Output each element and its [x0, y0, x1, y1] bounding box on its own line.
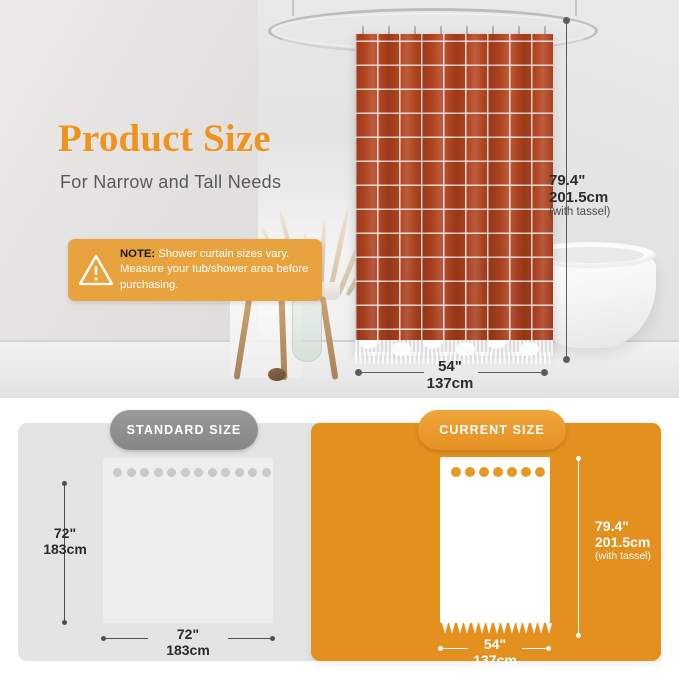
grommet: [451, 467, 461, 477]
grommet: [140, 468, 149, 477]
grommet: [262, 468, 271, 477]
standard-height-cm: 183cm: [24, 541, 106, 557]
dimension-endpoint-dot: [438, 646, 443, 651]
standard-width-dimension-line: [104, 638, 148, 639]
grommet: [465, 467, 475, 477]
note-label: NOTE:: [120, 248, 155, 260]
current-height-cm: 201.5cm: [595, 534, 679, 550]
scene-height-label: 79.4" 201.5cm (with tassel): [549, 172, 675, 218]
grommet: [521, 467, 531, 477]
tassel: [486, 623, 492, 634]
standard-width-dimension-line: [228, 638, 272, 639]
standard-size-badge: STANDARD SIZE: [110, 410, 258, 450]
width-cm: 137cm: [400, 375, 500, 392]
grommet: [235, 468, 244, 477]
current-height-label: 79.4" 201.5cm (with tassel): [595, 518, 679, 562]
current-size-badge: CURRENT SIZE: [418, 410, 566, 450]
standard-width-inches: 72": [146, 626, 230, 642]
standard-curtain-diagram: [103, 458, 273, 623]
product-size-infographic: Product Size For Narrow and Tall Needs N…: [0, 0, 679, 679]
dimension-endpoint-dot: [101, 636, 106, 641]
grommet: [221, 468, 230, 477]
stool-leg: [319, 296, 338, 380]
tassel: [516, 623, 522, 634]
current-height-qualifier: (with tassel): [595, 550, 679, 562]
size-comparison-section: STANDARD SIZE 72" 183cm 72" 183cm CURREN…: [0, 398, 679, 679]
dimension-endpoint-dot: [355, 369, 362, 376]
page-subtitle: For Narrow and Tall Needs: [60, 172, 281, 193]
current-curtain-diagram: [440, 457, 550, 623]
height-qualifier: (with tassel): [549, 206, 675, 218]
dimension-endpoint-dot: [541, 369, 548, 376]
tassel: [464, 623, 470, 634]
dimension-endpoint-dot: [563, 17, 570, 24]
warning-triangle-icon: [76, 252, 116, 288]
tassel: [538, 623, 544, 634]
tassel: [509, 623, 515, 634]
grommet: [194, 468, 203, 477]
grommet: [208, 468, 217, 477]
shower-curtain: [355, 34, 553, 354]
page-title: Product Size: [58, 116, 271, 161]
width-inches: 54": [400, 358, 500, 375]
current-width-inches: 54": [453, 636, 537, 652]
tassel: [501, 623, 507, 634]
scene-width-label: 54" 137cm: [400, 358, 500, 392]
dimension-endpoint-dot: [546, 646, 551, 651]
tassel: [449, 623, 455, 634]
dimension-endpoint-dot: [62, 481, 67, 486]
height-inches: 79.4": [549, 172, 675, 189]
current-width-cm: 137cm: [453, 652, 537, 668]
dimension-endpoint-dot: [563, 356, 570, 363]
standard-height-label: 72" 183cm: [24, 525, 106, 557]
tassel: [472, 623, 478, 634]
glass-vase: [292, 300, 322, 362]
rod-support: [292, 0, 294, 16]
tassel: [531, 623, 537, 634]
dimension-endpoint-dot: [576, 633, 581, 638]
note-text: NOTE: Shower curtain sizes vary. Measure…: [120, 247, 312, 294]
grommet: [248, 468, 257, 477]
stool-leg: [233, 296, 252, 380]
grommet: [181, 468, 190, 477]
dimension-endpoint-dot: [576, 456, 581, 461]
grommet: [167, 468, 176, 477]
bathroom-scene: Product Size For Narrow and Tall Needs N…: [0, 0, 679, 398]
standard-width-label: 72" 183cm: [146, 626, 230, 658]
standard-width-cm: 183cm: [146, 642, 230, 658]
dimension-endpoint-dot: [62, 620, 67, 625]
current-width-label: 54" 137cm: [453, 636, 537, 668]
grommet: [113, 468, 122, 477]
grommet: [154, 468, 163, 477]
wall-left: [0, 0, 258, 398]
dimension-endpoint-dot: [270, 636, 275, 641]
current-height-dimension-line: [578, 458, 579, 636]
grommet: [479, 467, 489, 477]
height-cm: 201.5cm: [549, 189, 675, 206]
grommet: [127, 468, 136, 477]
tassel: [442, 623, 448, 634]
current-grommet-row: [440, 467, 550, 476]
grommet: [493, 467, 503, 477]
note-box: NOTE: Shower curtain sizes vary. Measure…: [68, 239, 322, 301]
tassel: [546, 623, 552, 634]
grommet: [507, 467, 517, 477]
rod-support: [575, 0, 577, 16]
tassel: [523, 623, 529, 634]
standard-grommet-row: [103, 468, 273, 477]
tassel: [457, 623, 463, 634]
current-height-inches: 79.4": [595, 518, 679, 534]
decor-stone: [268, 368, 286, 381]
grommet: [535, 467, 545, 477]
tassel: [479, 623, 485, 634]
standard-height-inches: 72": [24, 525, 106, 541]
tassel: [494, 623, 500, 634]
